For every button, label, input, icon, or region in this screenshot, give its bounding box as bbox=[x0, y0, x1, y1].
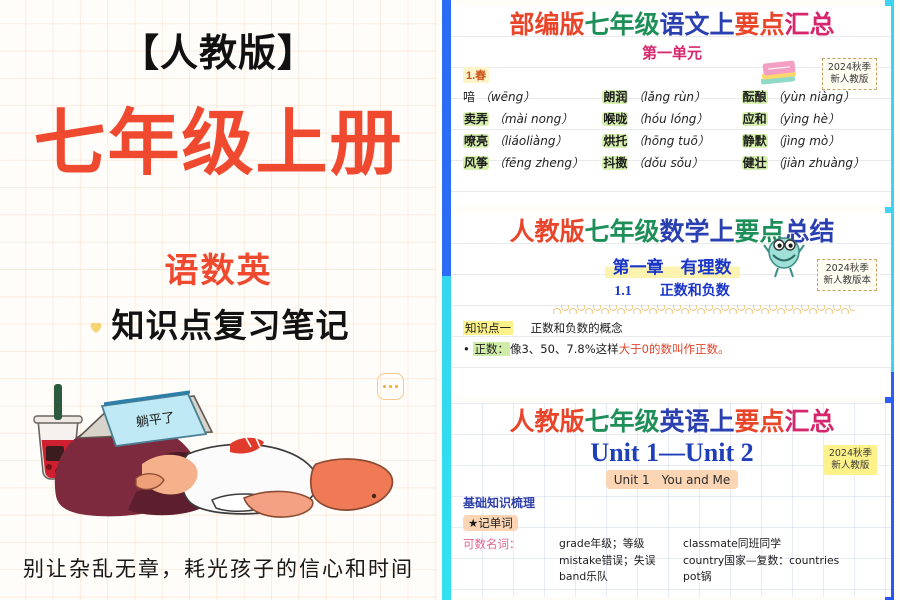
notes-heading-row: 知识点复习笔记 bbox=[0, 299, 437, 347]
math-bullet-red: 大于0的数叫作正数。 bbox=[619, 342, 730, 356]
title-segment-4: 汇总 bbox=[785, 12, 835, 39]
edition-badge: 2024秋季 新人教版本 bbox=[817, 259, 877, 291]
more-dots-icon[interactable] bbox=[377, 373, 404, 400]
title-segment-1: 七年级 bbox=[584, 12, 659, 39]
vocab-word: 酝酿 bbox=[742, 90, 768, 104]
vocab-pinyin: （jìng mò） bbox=[768, 134, 841, 148]
english-word-row: mistake错误；失误country国家—复数：countries bbox=[559, 553, 839, 570]
vocab-word: 应和 bbox=[742, 112, 768, 126]
edition-badge-line2: 新人教版本 bbox=[823, 275, 871, 287]
english-word-row: grade年级；等级classmate同班同学 bbox=[559, 536, 839, 553]
edition-badge-line2: 新人教版 bbox=[829, 460, 872, 472]
vocab-pinyin: （wēng） bbox=[475, 90, 535, 104]
math-kp-title: 知识点一 bbox=[463, 321, 513, 335]
math-bullet-label: 正数： bbox=[473, 342, 510, 356]
chinese-unit-label: 1.春 bbox=[463, 67, 489, 83]
vocab-item: 烘托 （hōng tuō） bbox=[602, 132, 741, 149]
notes-heading-label: 知识点复习笔记 bbox=[112, 299, 350, 347]
vocab-item: 应和 （yìng hè） bbox=[742, 110, 881, 127]
edition-badge: 2024秋季 新人教版 bbox=[824, 445, 877, 475]
vocab-item: 风筝 （fēng zheng） bbox=[463, 154, 602, 171]
edition-badge-line1: 2024秋季 bbox=[823, 263, 871, 275]
vocab-item: 酝酿 （yùn niàng） bbox=[742, 88, 881, 105]
vocab-word: 风筝 bbox=[463, 156, 489, 170]
subjects-label: 语数英 bbox=[0, 243, 437, 292]
title-segment-2: 数学上 bbox=[659, 219, 734, 246]
math-chapter-title: 第一章 有理数 bbox=[605, 253, 740, 278]
title-segment-2: 英语上 bbox=[659, 409, 734, 436]
vocab-word: 喑 bbox=[463, 90, 475, 104]
vocab-word: 静默 bbox=[742, 134, 768, 148]
chinese-note-title: 部编版七年级语文上要点汇总 bbox=[463, 12, 881, 40]
english-unit-range: Unit 1—Unit 2 bbox=[463, 438, 881, 468]
math-note-title: 人教版七年级数学上要点总结 bbox=[463, 219, 881, 247]
vocab-item: 喑 （wēng） bbox=[463, 88, 602, 105]
vocab-pinyin: （fēng zheng） bbox=[489, 156, 584, 170]
vocab-item: 朗润 （lǎng rùn） bbox=[602, 88, 741, 105]
title-segment-1: 七年级 bbox=[584, 219, 659, 246]
vocab-pinyin: （lǎng rùn） bbox=[628, 90, 706, 104]
vocab-pinyin: （hóu lóng） bbox=[628, 112, 708, 126]
edition-badge-line2: 新人教版 bbox=[828, 74, 871, 86]
vocab-word: 抖擞 bbox=[602, 156, 628, 170]
illustration-svg: 躺平了 bbox=[16, 368, 416, 540]
english-star-label: ★记单词 bbox=[463, 515, 518, 531]
math-kp-subtitle: 正数和负数的概念 bbox=[531, 321, 623, 335]
bullet-dot: • bbox=[463, 342, 470, 356]
english-word-right: classmate同班同学 bbox=[683, 536, 839, 553]
title-segment-1: 七年级 bbox=[584, 409, 659, 436]
english-unit-pill: Unit 1 You and Me bbox=[606, 470, 739, 489]
title-segment-0: 人教版 bbox=[509, 409, 584, 436]
edition-badge: 2024秋季 新人教版 bbox=[822, 58, 877, 90]
vocab-pinyin: （liáoliàng） bbox=[489, 134, 567, 148]
poster-root: 【人教版】 七年级上册 语数英 知识点复习笔记 bbox=[0, 0, 900, 600]
vocab-word: 嘹亮 bbox=[463, 134, 489, 148]
english-word-columns: 可数名词： grade年级；等级classmate同班同学mistake错误；失… bbox=[463, 536, 881, 586]
vocab-word: 健壮 bbox=[742, 156, 768, 170]
title-segment-3: 要点 bbox=[735, 409, 785, 436]
chinese-note-card[interactable]: 部编版七年级语文上要点汇总 第一单元 2024秋季 新人教版 1.春 喑 （wē… bbox=[451, 6, 891, 207]
page-title-bracket: 【人教版】 bbox=[0, 22, 437, 77]
book-stack-icon bbox=[759, 58, 799, 86]
english-word-left: grade年级；等级 bbox=[559, 536, 677, 553]
english-word-left: band乐队 bbox=[559, 569, 677, 586]
poster-caption: 别让杂乱无章，耗光孩子的信心和时间 bbox=[0, 553, 437, 583]
title-segment-0: 部编版 bbox=[509, 12, 584, 39]
vocab-word: 朗润 bbox=[602, 90, 628, 104]
vocab-item: 嘹亮 （liáoliàng） bbox=[463, 132, 602, 149]
vocab-pinyin: （hōng tuō） bbox=[628, 134, 709, 148]
vocab-word: 卖弄 bbox=[463, 112, 489, 126]
vocab-item: 静默 （jìng mò） bbox=[742, 132, 881, 149]
page-title: 七年级上册 bbox=[0, 108, 437, 180]
title-segment-2: 语文上 bbox=[659, 12, 734, 39]
math-bullet-text: 像3、50、7.8%这样 bbox=[510, 342, 619, 356]
vocab-pinyin: （dǒu sǒu） bbox=[628, 156, 703, 170]
smiley-mascot-icon bbox=[761, 237, 807, 281]
heart-icon bbox=[88, 319, 104, 335]
title-segment-0: 人教版 bbox=[509, 219, 584, 246]
english-section-title: 基础知识梳理 bbox=[463, 494, 881, 511]
math-bullet-line: • 正数：像3、50、7.8%这样大于0的数叫作正数。 bbox=[463, 341, 881, 357]
chinese-vocab-grid: 喑 （wēng）朗润 （lǎng rùn）酝酿 （yùn niàng）卖弄 （m… bbox=[463, 88, 881, 171]
english-word-list: grade年级；等级classmate同班同学mistake错误；失误count… bbox=[559, 536, 839, 586]
english-note-title: 人教版七年级英语上要点汇总 bbox=[463, 409, 881, 437]
left-poster-panel: 【人教版】 七年级上册 语数英 知识点复习笔记 bbox=[0, 0, 437, 600]
title-segment-4: 汇总 bbox=[785, 409, 835, 436]
vocab-item: 卖弄 （mài nong） bbox=[463, 110, 602, 127]
vocab-item: 健壮 （jiàn zhuàng） bbox=[742, 154, 881, 171]
chinese-note-subtitle: 第一单元 bbox=[463, 42, 881, 63]
vocab-item: 喉咙 （hóu lóng） bbox=[602, 110, 741, 127]
english-word-row: band乐队pot锅 bbox=[559, 569, 839, 586]
edition-badge-line1: 2024秋季 bbox=[829, 448, 872, 460]
english-column-label: 可数名词： bbox=[463, 536, 549, 586]
vocab-word: 烘托 bbox=[602, 134, 628, 148]
left-edge-gradient-bar bbox=[442, 0, 451, 600]
vocab-pinyin: （mài nong） bbox=[489, 112, 573, 126]
notes-preview-panel: 部编版七年级语文上要点汇总 第一单元 2024秋季 新人教版 1.春 喑 （wē… bbox=[437, 0, 900, 600]
math-note-card[interactable]: 人教版七年级数学上要点总结 第一章 有理数 1.1 正数和负数 bbox=[451, 213, 891, 397]
vocab-word: 喉咙 bbox=[602, 112, 628, 126]
title-segment-3: 要点 bbox=[735, 12, 785, 39]
wavy-divider bbox=[553, 305, 855, 314]
math-knowledge-point-header: 知识点一 正数和负数的概念 bbox=[463, 320, 881, 336]
vocab-pinyin: （yìng hè） bbox=[768, 112, 840, 126]
vocab-pinyin: （jiàn zhuàng） bbox=[768, 156, 865, 170]
open-book-icon: 躺平了 bbox=[78, 392, 212, 446]
english-word-right: pot锅 bbox=[683, 569, 839, 586]
lying-student-illustration: 躺平了 bbox=[16, 368, 416, 540]
vocab-item: 抖擞 （dǒu sǒu） bbox=[602, 154, 741, 171]
english-word-right: country国家—复数：countries bbox=[683, 553, 839, 570]
edition-badge-line1: 2024秋季 bbox=[828, 62, 871, 74]
english-word-left: mistake错误；失误 bbox=[559, 553, 677, 570]
english-note-card[interactable]: 人教版七年级英语上要点汇总 Unit 1—Unit 2 Unit 1 You a… bbox=[451, 403, 891, 597]
vocab-pinyin: （yùn niàng） bbox=[768, 90, 855, 104]
